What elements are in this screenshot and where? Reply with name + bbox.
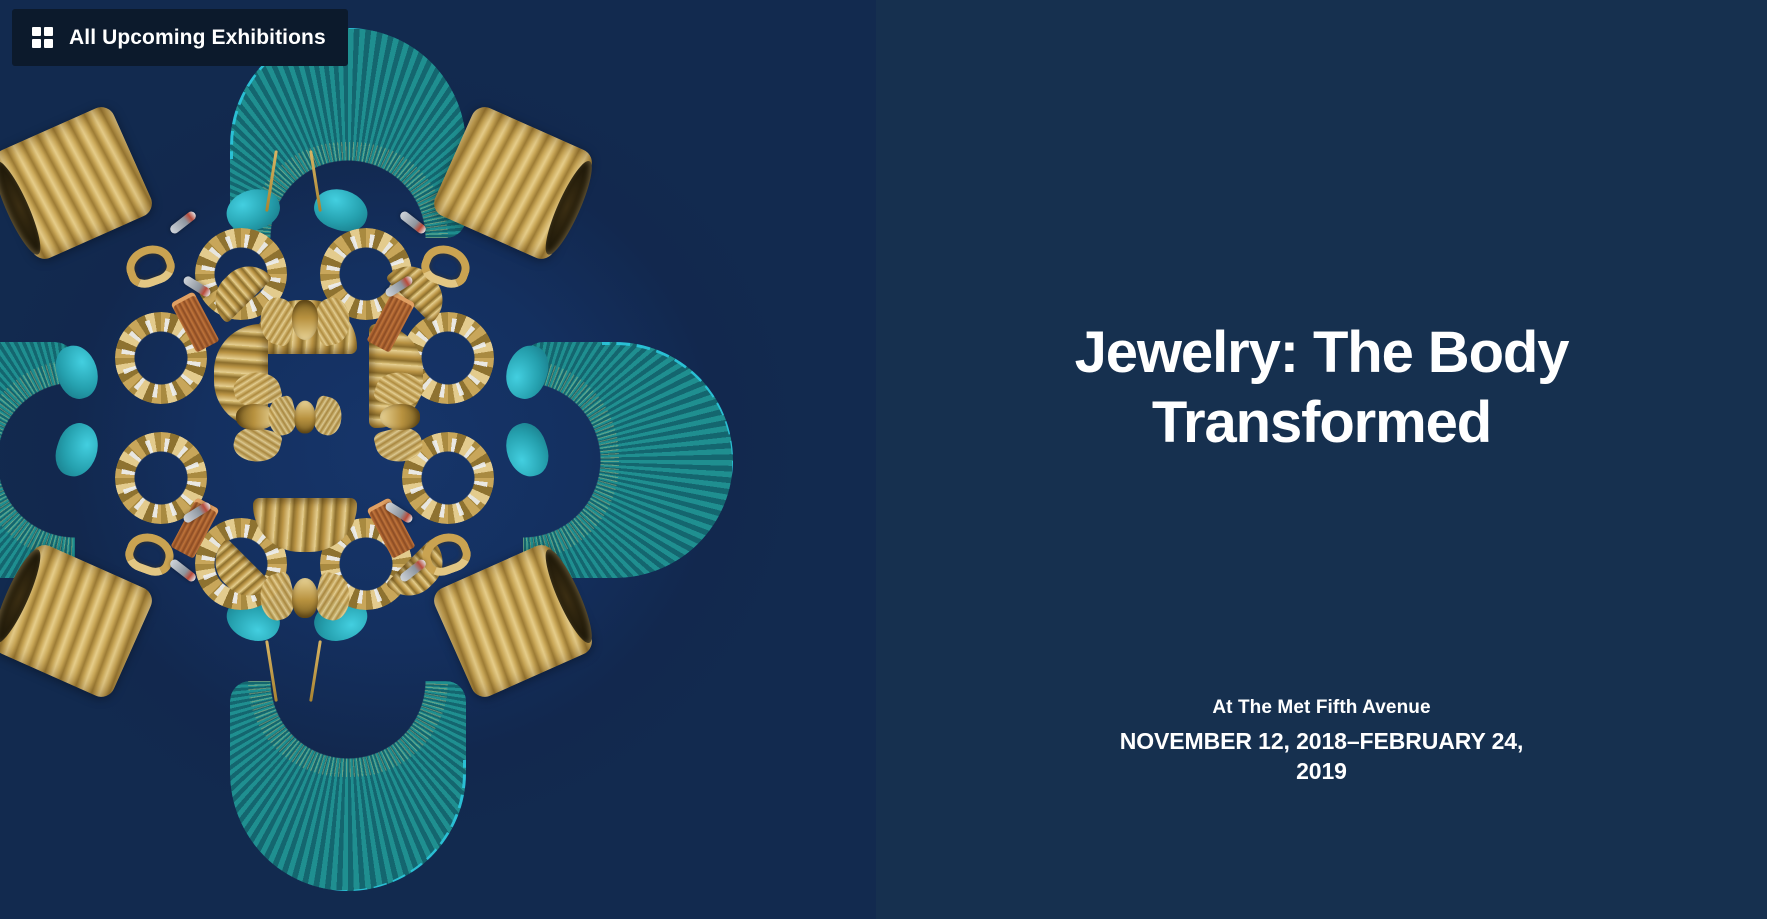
silver-pin-decor [168, 210, 197, 236]
exhibition-promo-page: All Upcoming Exhibitions Jewelry: The Bo… [0, 0, 1767, 919]
exhibition-dates: NOVEMBER 12, 2018–FEBRUARY 24, 2019 [1107, 727, 1537, 787]
silver-pin-decor [168, 558, 197, 584]
exhibition-artwork-image [0, 0, 876, 919]
gold-cuff-bracelet-decor [0, 103, 156, 264]
exhibition-info-panel: Jewelry: The Body Transformed At The Met… [876, 0, 1767, 919]
serpent-bracelet-decor [121, 239, 180, 293]
broad-collar-south-decor [230, 681, 466, 891]
gold-bee-ornament-decor [368, 374, 432, 460]
title-block: Jewelry: The Body Transformed [876, 318, 1767, 458]
gold-bee-ornament-decor [262, 288, 348, 352]
exhibition-venue: At The Met Fifth Avenue [996, 697, 1647, 719]
grid-icon [32, 27, 53, 48]
all-upcoming-exhibitions-button[interactable]: All Upcoming Exhibitions [12, 9, 348, 66]
artwork-panel: All Upcoming Exhibitions [0, 0, 876, 919]
artwork-stage [0, 0, 876, 919]
artwork-composition [0, 0, 876, 919]
broad-collar-east-decor [523, 342, 733, 578]
exhibition-meta-block: At The Met Fifth Avenue NOVEMBER 12, 201… [876, 697, 1767, 787]
serpent-bracelet-decor [121, 527, 180, 581]
exhibition-title: Jewelry: The Body Transformed [1022, 318, 1622, 458]
gold-bee-ornament-decor [262, 566, 348, 630]
gold-bee-ornament-decor [270, 391, 341, 443]
all-upcoming-exhibitions-label: All Upcoming Exhibitions [69, 26, 326, 50]
